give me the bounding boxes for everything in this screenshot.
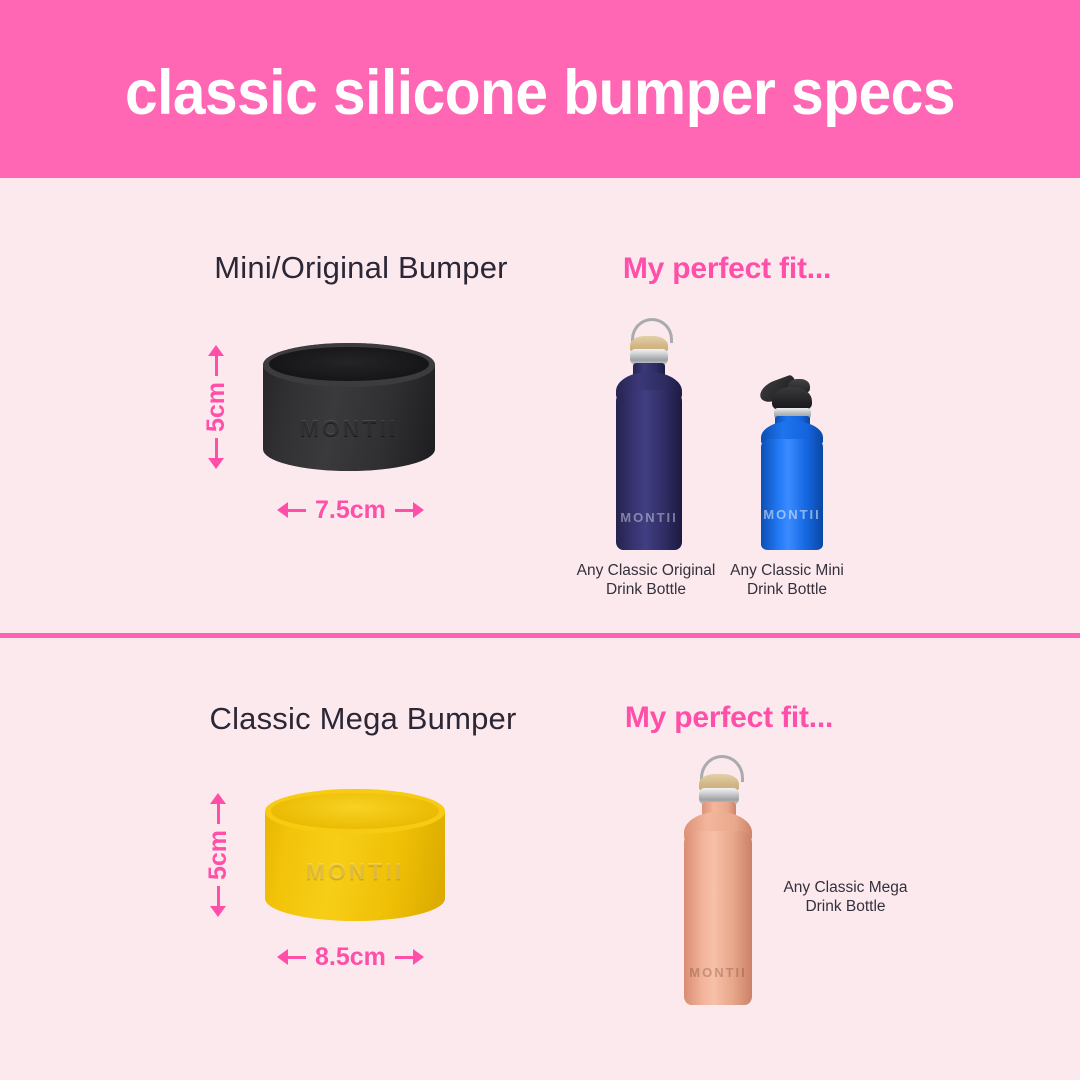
bumper-cavity [269,347,429,382]
dimension-width-mini: 7.5cm [277,493,422,527]
arrow-up-icon [208,345,224,356]
bottle-image-classic-original: MONTII [608,318,690,550]
bottle-body [616,390,682,550]
dimension-shaft [395,956,413,959]
bottle-image-classic-mini: MONTII [755,375,829,550]
bumper-image-mega: MONTII [265,789,445,921]
arrow-up-icon [210,793,226,804]
fit-heading-bottom: My perfect fit... [558,701,900,735]
dimension-shaft [215,438,218,458]
bumper-heading-mega: Classic Mega Bumper [138,701,588,737]
bumper-heading-mini: Mini/Original Bumper [136,250,586,286]
dimension-width-label-mega: 8.5cm [306,943,395,972]
dimension-width-mega: 8.5cm [277,940,427,974]
dimension-shaft [217,886,220,906]
bottle-body [761,439,823,550]
dimension-shaft [288,509,306,512]
montii-logo: MONTII [676,965,760,980]
bumper-image-mini: MONTII [263,343,435,471]
section-divider [0,633,1080,638]
arrow-right-icon [413,949,424,965]
dimension-shaft [215,356,218,376]
montii-logo: MONTII [265,858,445,885]
dimension-shaft [217,804,220,824]
arrow-left-icon [277,949,288,965]
dimension-width-label-mini: 7.5cm [306,496,395,525]
dimension-height-mini: 5cm [199,345,233,479]
dimension-height-label-mega: 5cm [204,824,233,886]
dimension-height-mega: 5cm [201,793,235,927]
arrow-right-icon [413,502,424,518]
arrow-left-icon [277,502,288,518]
arrow-down-icon [208,458,224,469]
page-title: classic silicone bumper specs [38,58,1042,128]
bumper-cavity [271,793,438,829]
bottle-caption-classic-mega: Any Classic Mega Drink Bottle [748,878,943,916]
dimension-height-label-mini: 5cm [202,376,231,438]
fit-heading-top: My perfect fit... [556,252,898,286]
bottle-caption-classic-mini: Any Classic Mini Drink Bottle [692,561,882,599]
montii-logo: MONTII [608,510,690,525]
montii-logo: MONTII [755,507,829,522]
arrow-down-icon [210,906,226,917]
dimension-shaft [395,509,413,512]
dimension-shaft [288,956,306,959]
montii-logo: MONTII [263,415,435,442]
